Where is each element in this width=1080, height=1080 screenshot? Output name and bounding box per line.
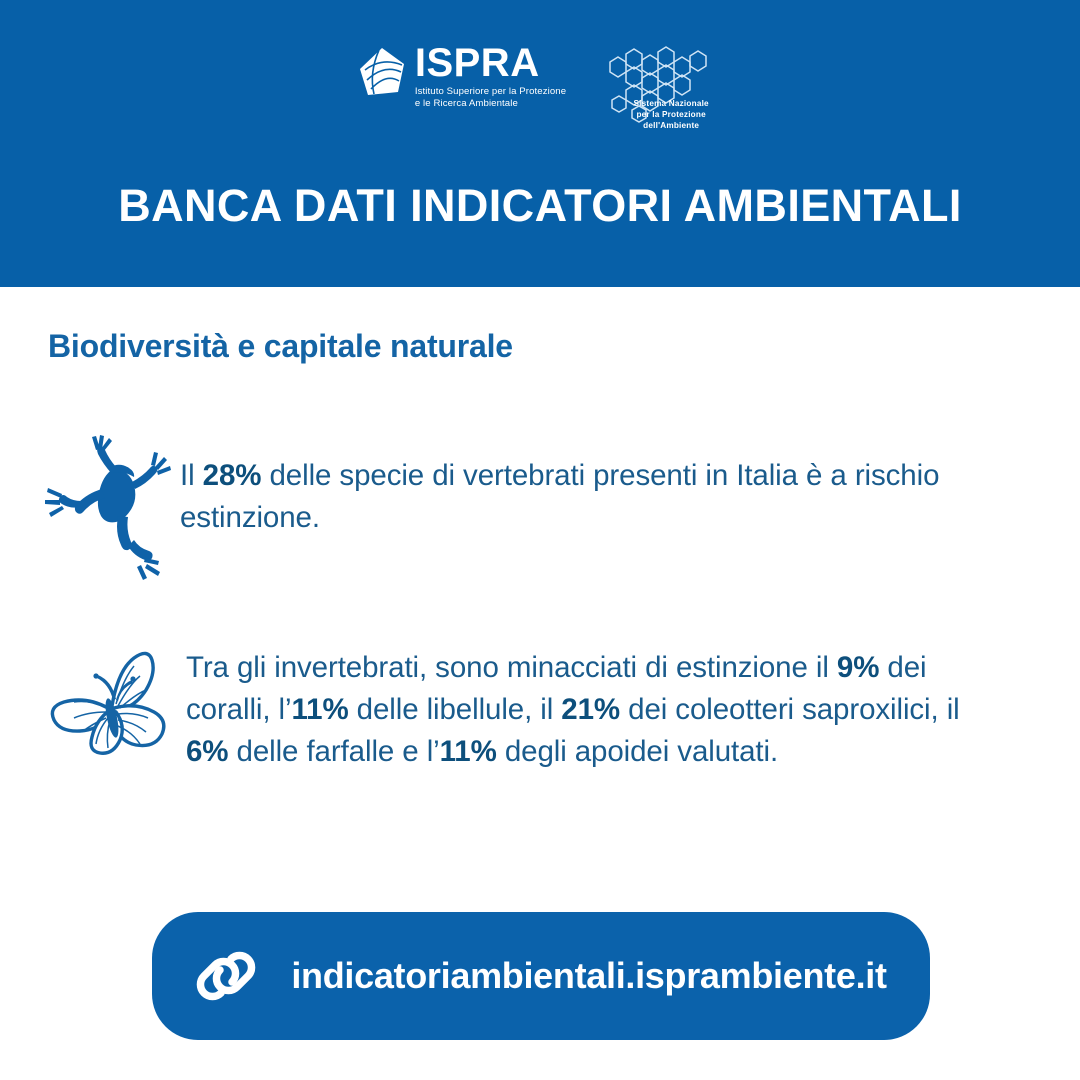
butterfly-icon (34, 648, 186, 768)
infographic-page: ISPRA Istituto Superiore per la Protezio… (0, 0, 1080, 1080)
snpa-logo: Sistema Nazionale per la Protezione dell… (592, 44, 722, 136)
website-link-label[interactable]: indicatoriambientali.isprambiente.it (291, 955, 886, 997)
ispra-tagline-line2: e le Ricerca Ambientale (415, 98, 566, 110)
ispra-logo: ISPRA Istituto Superiore per la Protezio… (358, 44, 566, 111)
ispra-diamond-icon (358, 47, 406, 97)
snpa-tagline-line2: per la Protezione (636, 110, 705, 119)
fact-item-vertebrates: Il 28% delle specie di vertebrati presen… (40, 430, 1000, 584)
ispra-tagline-line1: Istituto Superiore per la Protezione (415, 86, 566, 98)
header-band: ISPRA Istituto Superiore per la Protezio… (0, 0, 1080, 287)
ispra-wordmark: ISPRA (415, 44, 566, 83)
snpa-tagline-line1: Sistema Nazionale (634, 99, 709, 108)
snpa-tagline: Sistema Nazionale per la Protezione dell… (620, 99, 722, 132)
snpa-tagline-line3: dell'Ambiente (643, 121, 699, 130)
link-chain-icon (195, 945, 257, 1007)
fact-item-invertebrates: Tra gli invertebrati, sono minacciati di… (34, 640, 1014, 773)
frog-icon (40, 434, 180, 584)
fact-text-invertebrates: Tra gli invertebrati, sono minacciati di… (186, 640, 976, 773)
page-title: BANCA DATI INDICATORI AMBIENTALI (0, 180, 1080, 232)
section-title: Biodiversità e capitale naturale (48, 328, 513, 365)
website-link-button[interactable]: indicatoriambientali.isprambiente.it (152, 912, 930, 1040)
fact-text-vertebrates: Il 28% delle specie di vertebrati presen… (180, 430, 960, 539)
logo-row: ISPRA Istituto Superiore per la Protezio… (0, 44, 1080, 130)
